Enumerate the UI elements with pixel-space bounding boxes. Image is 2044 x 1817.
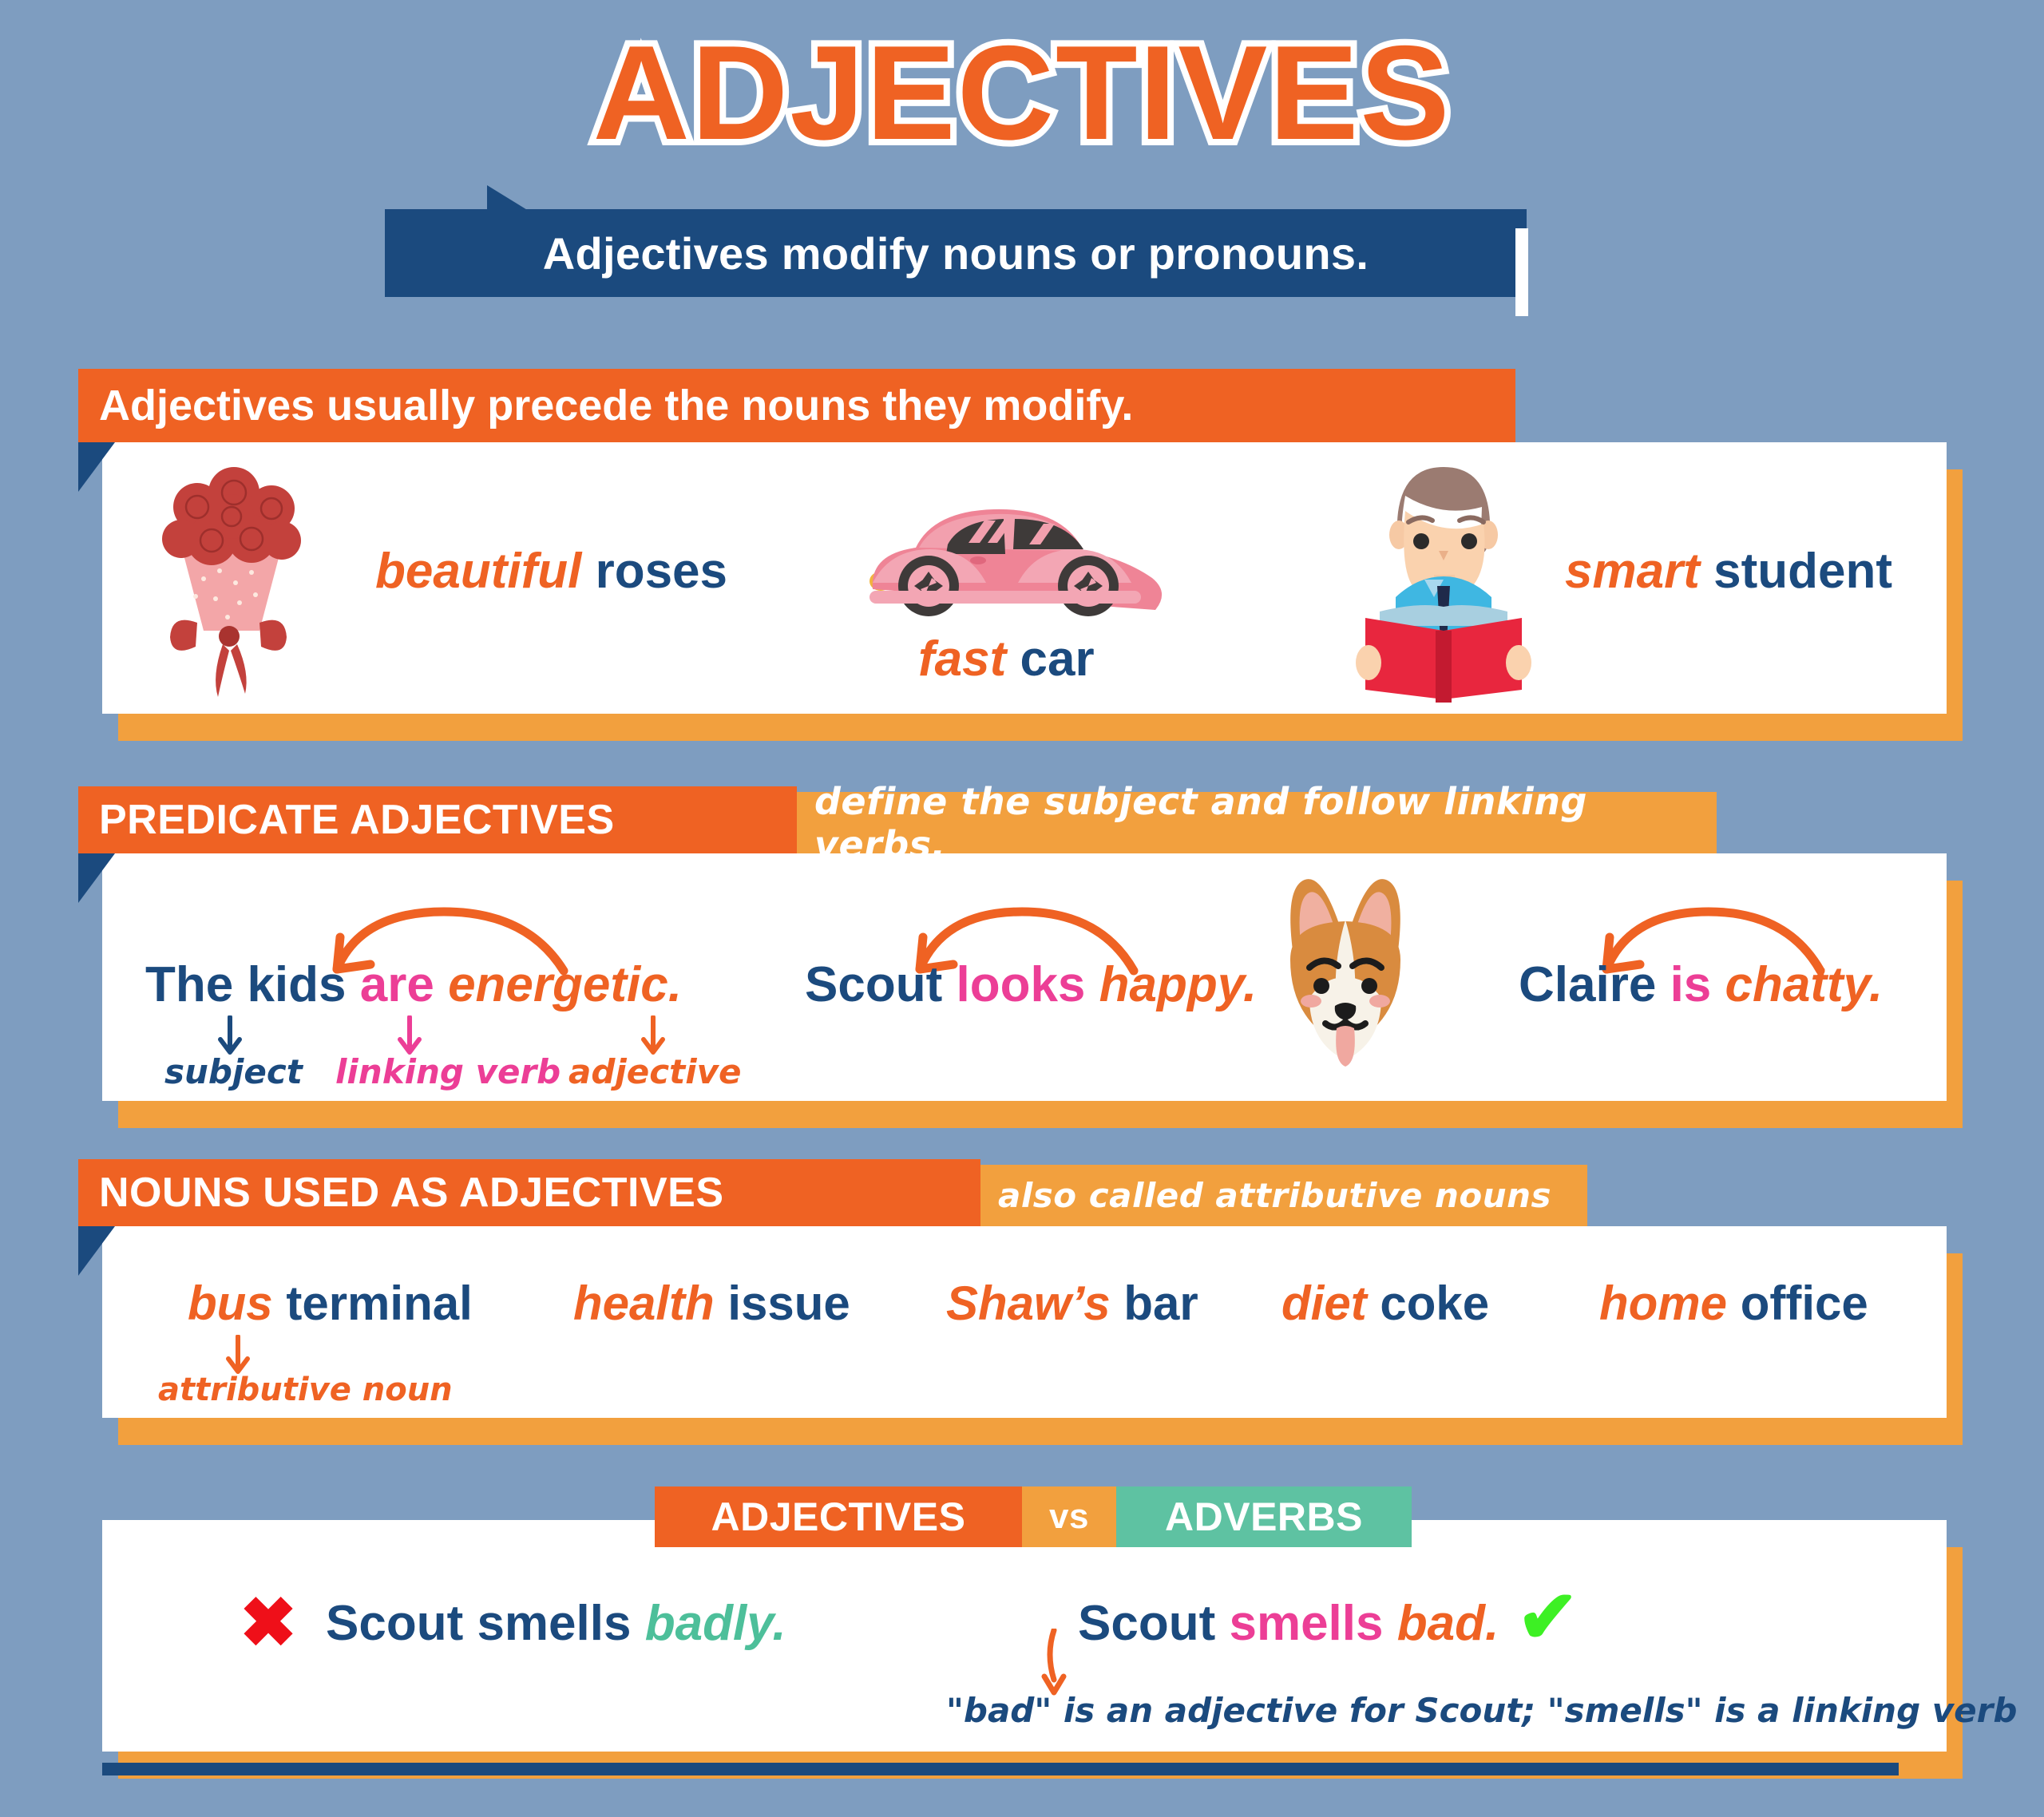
rose-bouquet-icon (140, 459, 323, 699)
label-subject: subject (164, 1052, 303, 1091)
section-vs-bottom-bar (102, 1763, 1899, 1775)
head-noun: office (1741, 1277, 1868, 1330)
example-beautiful-roses: beautiful roses (375, 543, 727, 600)
right-example-mark: ✔ (1517, 1581, 1579, 1654)
section-attributive-tab-label: NOUNS USED AS ADJECTIVES (99, 1169, 724, 1217)
sentence-adjective: energetic. (448, 957, 682, 1012)
note-down-arrow-icon (1038, 1629, 1070, 1697)
section-vs-tab-vs-label: vs (1049, 1497, 1089, 1537)
example-adjective: beautiful (375, 544, 581, 599)
right-sentence-verb: smells (1229, 1596, 1383, 1651)
example-adjective: smart (1565, 544, 1700, 599)
subtitle-ribbon-edge (1515, 228, 1528, 316)
sentence-linking-verb: looks (956, 957, 1085, 1012)
sentence-linking-verb: are (360, 957, 434, 1012)
example-fast-car: fast car (918, 631, 1095, 687)
sentence-adjective: happy. (1099, 957, 1258, 1012)
example-smart-student: smart student (1565, 543, 1892, 600)
page-title-block: ADJECTIVES (0, 22, 2044, 163)
student-reading-icon (1348, 461, 1539, 705)
head-noun: terminal (286, 1277, 472, 1330)
sentence-subject: Claire (1519, 957, 1656, 1012)
sentence-subject: Scout (805, 957, 942, 1012)
example-home-office: home office (1599, 1276, 1868, 1331)
label-attributive-noun: attributive noun (158, 1372, 453, 1408)
attributive-noun: health (573, 1277, 715, 1330)
adjective-down-arrow-icon (639, 1015, 667, 1055)
example-sentence-claire: Claire is chatty. (1519, 956, 1883, 1013)
wrong-sentence-adverb: badly. (645, 1596, 786, 1651)
linking-verb-down-arrow-icon (395, 1015, 424, 1055)
wrong-example-mark: ✖ (240, 1589, 297, 1657)
section-vs-tab-adverbs-label: ADVERBS (1165, 1494, 1363, 1540)
attributive-noun: Shaw’s (946, 1277, 1111, 1330)
section-vs-tab-adjectives: ADJECTIVES (655, 1486, 1022, 1547)
head-noun: coke (1380, 1277, 1489, 1330)
attributive-noun: bus (188, 1277, 273, 1330)
right-example-sentence: Scout smells bad. (1078, 1595, 1499, 1652)
section-attributive-subtab-label: also called attributive nouns (998, 1176, 1551, 1215)
attributive-noun: home (1599, 1277, 1727, 1330)
subtitle-ribbon-fold (487, 185, 529, 211)
example-health-issue: health issue (573, 1276, 850, 1331)
example-bus-terminal: bus terminal (188, 1276, 473, 1331)
pink-car-icon (858, 487, 1170, 639)
section-vs-tab-adjectives-label: ADJECTIVES (711, 1494, 966, 1540)
subtitle-text: Adjectives modify nouns or pronouns. (543, 228, 1369, 279)
head-noun: issue (727, 1277, 850, 1330)
right-sentence-subject: Scout (1078, 1596, 1215, 1651)
example-diet-coke: diet coke (1281, 1276, 1489, 1331)
corgi-dog-icon (1277, 870, 1413, 1082)
subject-down-arrow-icon (216, 1015, 244, 1055)
section-predicate-tab-label: PREDICATE ADJECTIVES (99, 796, 615, 844)
right-sentence-adjective: bad. (1397, 1596, 1499, 1651)
attributive-noun: diet (1281, 1277, 1367, 1330)
example-noun: roses (596, 544, 727, 599)
section-vs-tab-vs: vs (1022, 1486, 1116, 1547)
wrong-sentence-subject: Scout smells (326, 1596, 631, 1651)
example-sentence-kids: The kids are energetic. (145, 956, 682, 1013)
section-precede-tab: Adjectives usually precede the nouns the… (78, 369, 1515, 442)
sentence-adjective: chatty. (1725, 957, 1884, 1012)
section-attributive-tab-fold (78, 1226, 115, 1276)
head-noun: bar (1123, 1277, 1198, 1330)
section-predicate-tab: PREDICATE ADJECTIVES (78, 786, 797, 853)
page-title: ADJECTIVES (593, 22, 1452, 163)
sentence-linking-verb: is (1670, 957, 1712, 1012)
example-sentence-scout: Scout looks happy. (805, 956, 1257, 1013)
attributive-down-arrow-icon (224, 1335, 252, 1375)
example-adjective: fast (918, 631, 1006, 687)
section-vs-tab-adverbs: ADVERBS (1116, 1486, 1412, 1547)
section-precede-tab-fold (78, 442, 115, 492)
vs-explanation-note: "bad" is an adjective for Scout; "smells… (946, 1691, 2017, 1730)
section-precede-tab-label: Adjectives usually precede the nouns the… (99, 381, 1133, 430)
subtitle-ribbon: Adjectives modify nouns or pronouns. (385, 209, 1527, 297)
section-predicate-subtab: define the subject and follow linking ve… (797, 792, 1717, 853)
example-shaws-bar: Shaw’s bar (946, 1276, 1198, 1331)
example-noun: student (1713, 544, 1892, 599)
wrong-example-sentence: Scout smells badly. (326, 1595, 786, 1652)
example-noun: car (1020, 631, 1095, 687)
section-attributive-subtab: also called attributive nouns (980, 1165, 1587, 1226)
section-predicate-subtab-label: define the subject and follow linking ve… (814, 780, 1699, 866)
sentence-subject: The kids (145, 957, 347, 1012)
label-adjective: adjective (568, 1052, 742, 1091)
section-predicate-tab-fold (78, 853, 115, 903)
label-linking-verb: linking verb (335, 1052, 561, 1091)
section-attributive-tab: NOUNS USED AS ADJECTIVES (78, 1159, 980, 1226)
